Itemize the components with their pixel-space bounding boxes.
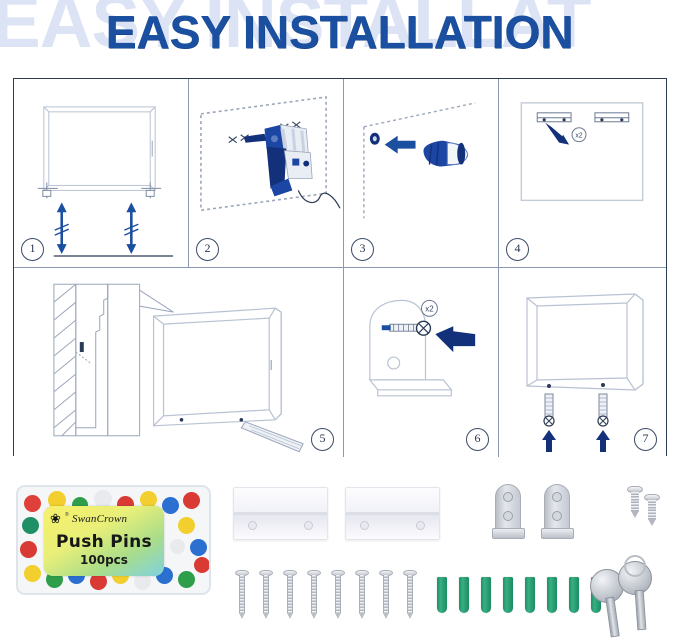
bracket-hole xyxy=(552,511,562,521)
step-panel-5: 5 xyxy=(14,268,344,457)
screw-tip xyxy=(239,613,245,619)
metal-l-bracket xyxy=(541,484,574,542)
green-wall-anchor xyxy=(437,577,447,613)
step-1-illustration xyxy=(14,79,188,267)
step-number-1: 1 xyxy=(21,238,44,261)
step-number-7: 7 xyxy=(634,428,657,451)
screw-shaft xyxy=(407,575,413,613)
screw-shaft xyxy=(648,500,656,520)
step-number-6: 6 xyxy=(466,428,489,451)
screw-tip xyxy=(383,613,389,619)
plate-screw-hole xyxy=(248,521,257,530)
step-panel-6: x2 6 xyxy=(344,268,499,457)
step-panel-3: 3 xyxy=(344,79,499,268)
screw-tip xyxy=(287,613,293,619)
step-number-3: 3 xyxy=(351,238,374,261)
screw-tip xyxy=(648,519,656,526)
screw-shaft xyxy=(311,575,317,613)
product-name: Push Pins xyxy=(44,532,164,552)
installation-steps-grid: 1 xyxy=(13,78,667,456)
step-panel-1: 1 xyxy=(14,79,189,268)
screw-shaft xyxy=(263,575,269,613)
step-number-5: 5 xyxy=(311,428,334,451)
page-title: EASY INSTALLATION xyxy=(0,8,679,56)
key-blade xyxy=(605,597,619,638)
hardware-contents-row: ❀ ® SwanCrown Push Pins 100pcs xyxy=(0,462,679,640)
brand-row: ❀ ® SwanCrown xyxy=(50,512,160,528)
plate-screw-hole xyxy=(304,521,313,530)
bracket-hole xyxy=(552,492,562,502)
brand-name: SwanCrown xyxy=(72,513,127,525)
step-number-4: 4 xyxy=(506,238,529,261)
step-panel-4: x2 4 xyxy=(499,79,666,268)
screw-tip xyxy=(335,613,341,619)
white-mounting-plate xyxy=(233,487,328,540)
push-pins-box: ❀ ® SwanCrown Push Pins 100pcs xyxy=(16,485,211,595)
swan-logo-icon: ❀ xyxy=(50,513,65,526)
green-wall-anchor xyxy=(459,577,469,613)
green-wall-anchor xyxy=(547,577,557,613)
screw-tip xyxy=(407,613,413,619)
bracket-vertical-arm xyxy=(495,484,521,530)
bracket-hole xyxy=(503,492,513,502)
step-panel-2: 2 xyxy=(189,79,344,268)
metal-l-bracket xyxy=(492,484,525,542)
screw-shaft xyxy=(383,575,389,613)
key-set xyxy=(588,557,668,637)
key-blade xyxy=(635,590,647,631)
screw-tip xyxy=(359,613,365,619)
bracket-hole xyxy=(503,511,513,521)
screw-tip xyxy=(263,613,269,619)
svg-text:x2: x2 xyxy=(575,133,582,140)
product-quantity: 100pcs xyxy=(44,553,164,567)
bracket-vertical-arm xyxy=(544,484,570,530)
screw-shaft xyxy=(631,492,639,512)
green-wall-anchor xyxy=(525,577,535,613)
title-banner: EASY INSTALLAT EASY INSTALLATION xyxy=(0,0,679,70)
step-4-illustration: x2 xyxy=(499,79,666,267)
plate-screw-hole xyxy=(416,521,425,530)
svg-text:x2: x2 xyxy=(425,304,434,313)
push-pins-case: ❀ ® SwanCrown Push Pins 100pcs xyxy=(16,485,211,595)
key-ring xyxy=(624,555,646,577)
step-panel-7: 7 xyxy=(499,268,666,457)
plate-groove xyxy=(234,512,327,515)
screw-tip xyxy=(311,613,317,619)
push-pins-label: ❀ ® SwanCrown Push Pins 100pcs xyxy=(44,506,164,576)
bracket-base xyxy=(492,528,525,539)
screw-shaft xyxy=(335,575,341,613)
bracket-base xyxy=(541,528,574,539)
screw-shaft xyxy=(287,575,293,613)
white-mounting-plate xyxy=(345,487,440,540)
green-wall-anchor xyxy=(569,577,579,613)
plate-screw-hole xyxy=(360,521,369,530)
green-wall-anchor xyxy=(503,577,513,613)
registered-mark: ® xyxy=(65,512,69,518)
screw-shaft xyxy=(239,575,245,613)
screw-tip xyxy=(631,511,639,518)
plate-groove xyxy=(346,512,439,515)
green-wall-anchor xyxy=(481,577,491,613)
screw-shaft xyxy=(359,575,365,613)
step-5-illustration xyxy=(14,268,343,457)
step-number-2: 2 xyxy=(196,238,219,261)
